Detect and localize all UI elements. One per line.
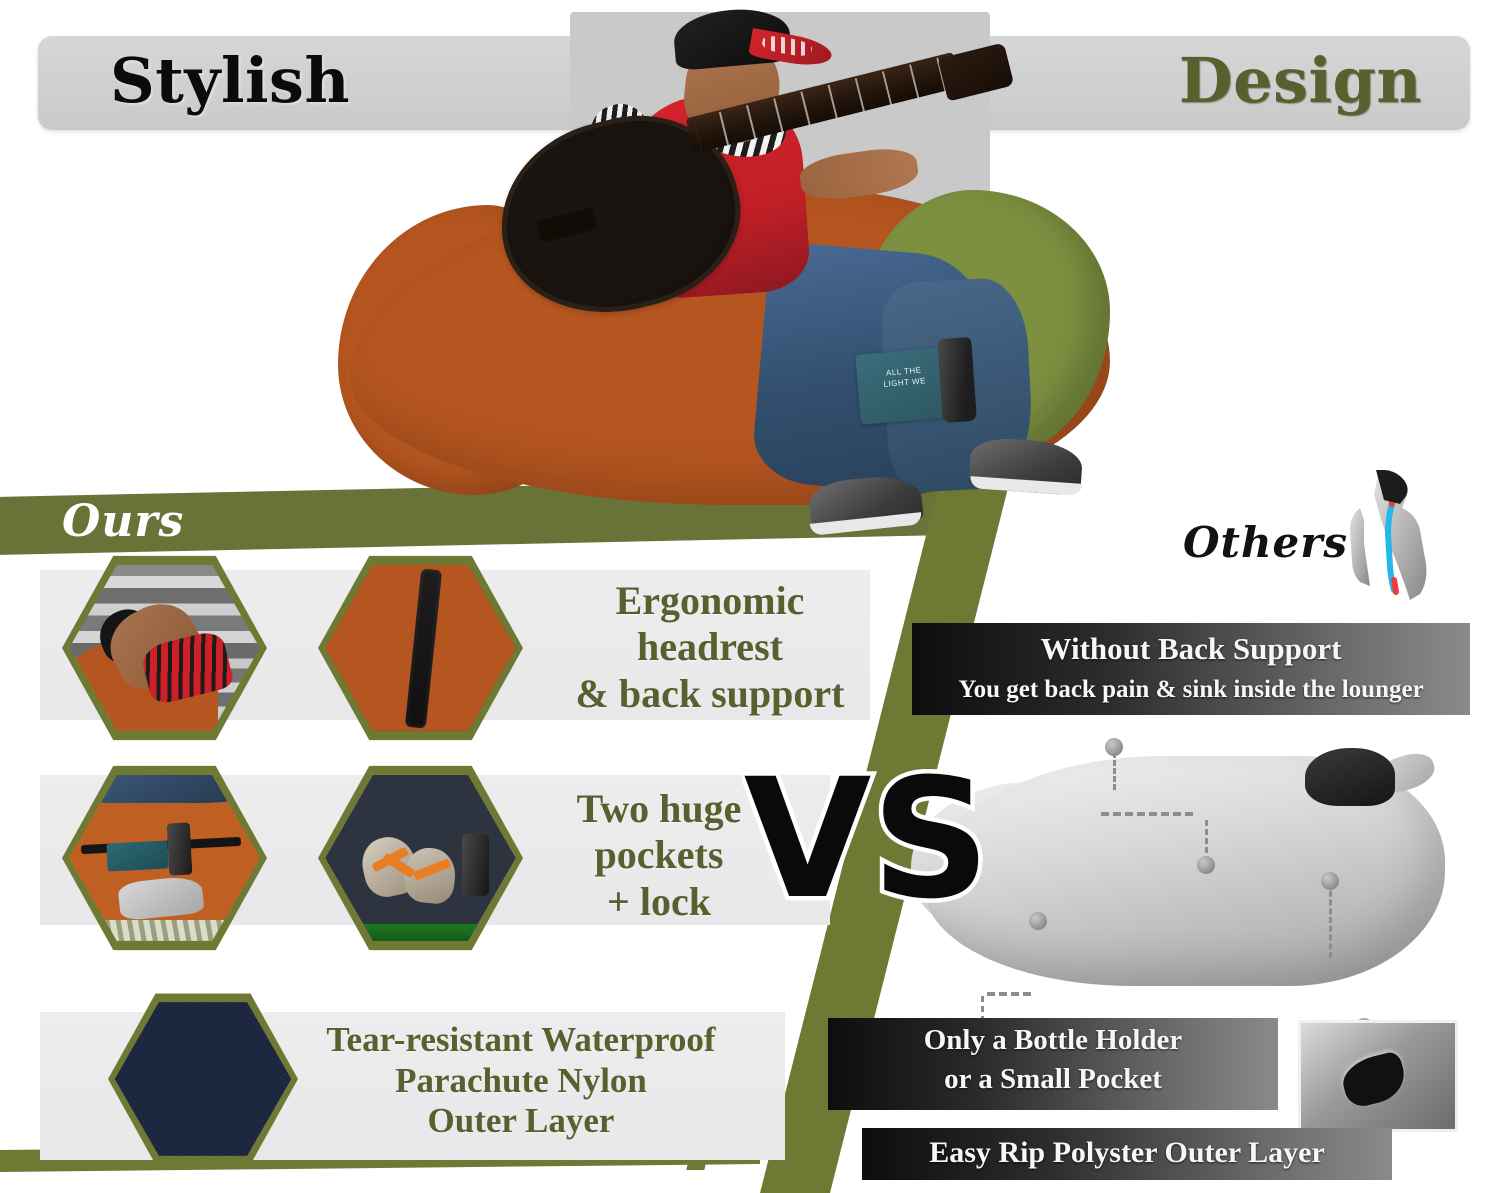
callout-pin-mid <box>1197 856 1215 874</box>
infographic-canvas: ALL THE LIGHT WE Stylish Design Ours Oth… <box>0 0 1500 1193</box>
callout-line-mid-horizontal <box>1101 812 1193 816</box>
vs-label: VS <box>744 743 991 935</box>
hex-photo-zipper <box>318 552 523 744</box>
torn-fabric-hole <box>1338 1050 1409 1110</box>
pocket-photo-jeans <box>77 772 252 803</box>
page-title-stylish: Stylish <box>110 44 350 117</box>
hero-pocket-book-label: ALL THE LIGHT WE <box>868 363 941 409</box>
others-heading-no-back-support: Without Back Support <box>912 631 1470 667</box>
hero-image: ALL THE LIGHT WE <box>330 0 1120 575</box>
feature-text-ergonomic: Ergonomic headrest & back support <box>540 578 880 717</box>
torn-fabric-photo <box>1298 1020 1458 1132</box>
pocket2-photo-bottle <box>462 834 489 896</box>
callout-line-bottom-left <box>987 992 1031 996</box>
callout-line-top <box>1113 752 1116 790</box>
others-line-bottle-holder: Only a Bottle Holder <box>828 1024 1278 1057</box>
callout-pin-top <box>1105 738 1123 756</box>
others-sub-no-back-support: You get back pain & sink inside the loun… <box>906 676 1476 704</box>
callout-line-right <box>1329 882 1332 958</box>
hex-photo-headrest <box>62 552 267 744</box>
fabric-weave-photo <box>115 999 292 1159</box>
ours-label: Ours <box>62 496 184 547</box>
feature-text-fabric: Tear-resistant Waterproof Parachute Nylo… <box>276 1020 766 1142</box>
others-label: Others <box>1183 518 1348 567</box>
pocket-photo-ground <box>69 920 260 944</box>
hero-water-bottle <box>937 337 977 423</box>
pocket2-photo-grass <box>325 924 516 945</box>
others-line-small-pocket: or a Small Pocket <box>828 1063 1278 1096</box>
pocket-photo-bottle <box>167 823 193 876</box>
callout-pin-right <box>1321 872 1339 890</box>
vs-badge: VS <box>742 738 992 938</box>
page-title-design: Design <box>1179 44 1422 117</box>
competitor-person-head <box>1305 748 1395 806</box>
pocket-photo-book <box>107 841 169 872</box>
others-line-easy-rip: Easy Rip Polyster Outer Layer <box>862 1136 1392 1170</box>
hex-photo-fabric <box>108 990 298 1168</box>
hex-photo-pocket-book <box>62 762 267 954</box>
callout-pin-left-body <box>1029 912 1047 930</box>
hex-photo-pocket-sandals <box>318 762 523 954</box>
